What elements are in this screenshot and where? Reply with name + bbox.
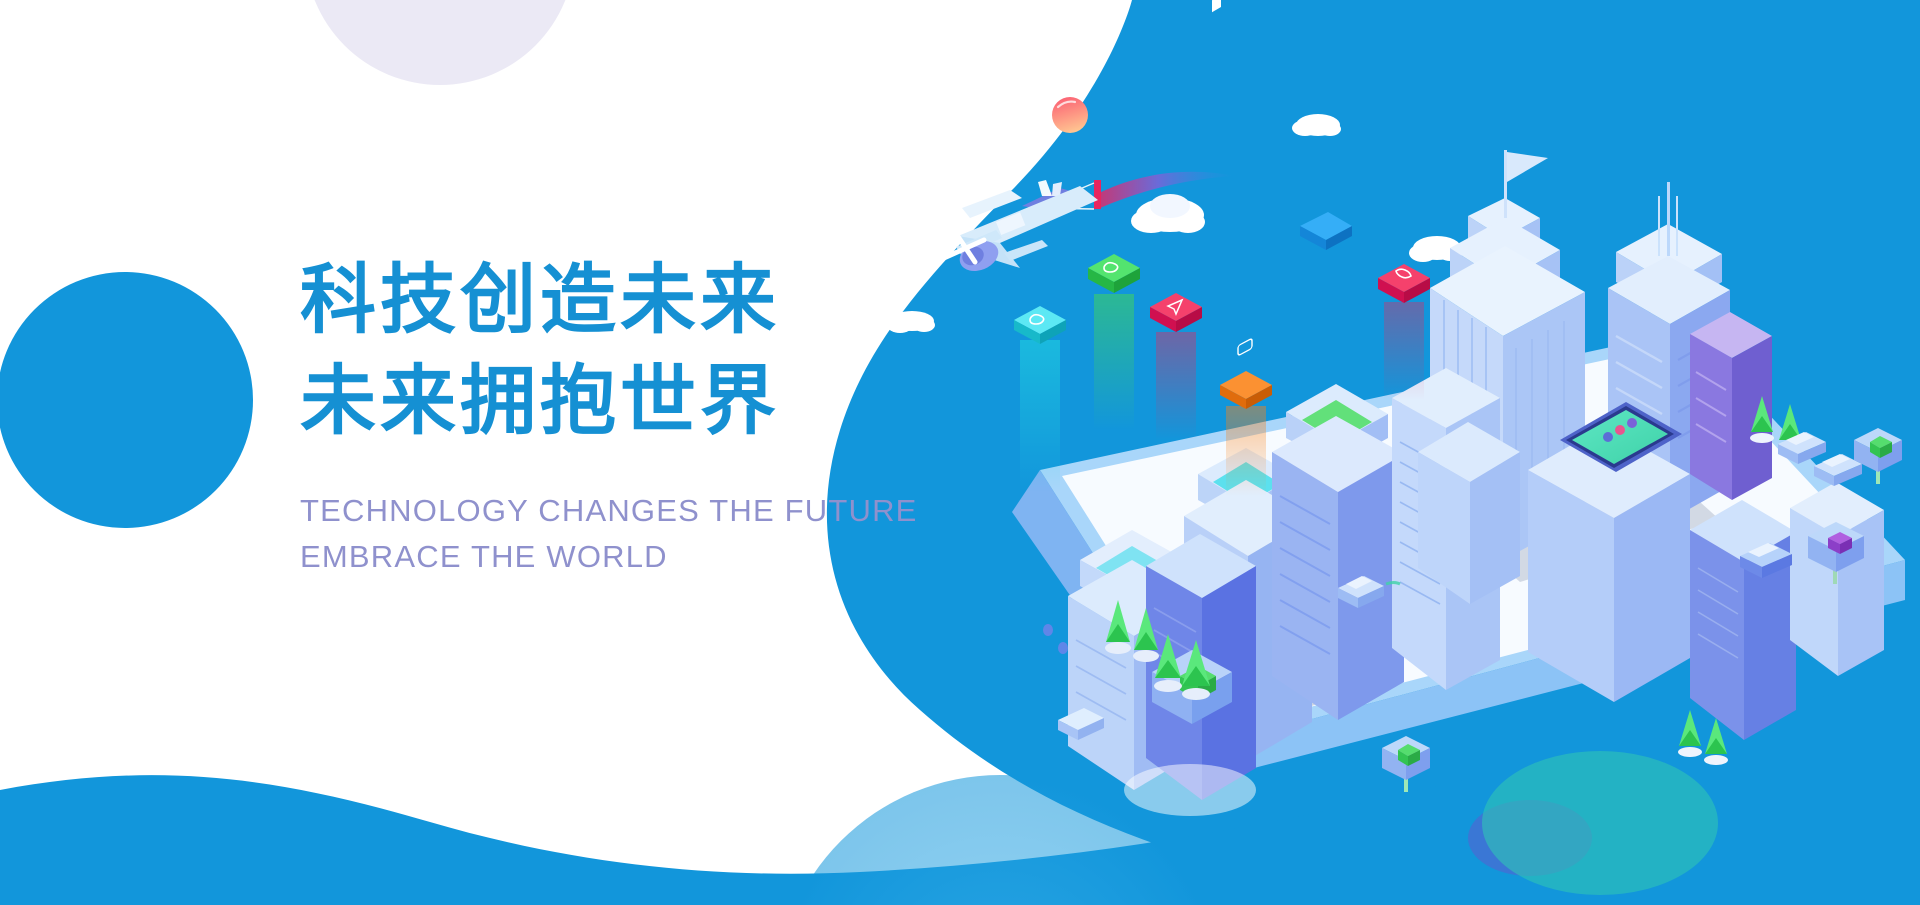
beacon-red xyxy=(1150,293,1202,440)
airplane xyxy=(944,186,1098,276)
beacon-pink xyxy=(1378,264,1430,400)
cloud-top-right xyxy=(1292,114,1341,136)
subtitle-line-1: TECHNOLOGY CHANGES THE FUTURE xyxy=(300,488,920,534)
headline-line-1: 科技创造未来 xyxy=(300,250,920,351)
street-kiosk-green xyxy=(1854,428,1902,484)
cloud-large-right xyxy=(1131,194,1205,233)
beacon-cyan xyxy=(1014,306,1066,492)
hero-banner: 科技创造未来 未来拥抱世界 TECHNOLOGY CHANGES THE FUT… xyxy=(0,0,1920,905)
beacon-orange xyxy=(1220,338,1272,496)
subtitle-line-2: EMBRACE THE WORLD xyxy=(300,534,920,580)
headline-line-2: 未来拥抱世界 xyxy=(300,351,920,452)
isometric-city-illustration xyxy=(0,0,1920,905)
hero-text-block: 科技创造未来 未来拥抱世界 TECHNOLOGY CHANGES THE FUT… xyxy=(300,250,920,580)
flag-icon xyxy=(1507,152,1548,182)
subtitle-block: TECHNOLOGY CHANGES THE FUTURE EMBRACE TH… xyxy=(300,488,920,580)
phone-glow-puddle xyxy=(1124,764,1256,816)
street-kiosk-bottom xyxy=(1382,736,1430,792)
camera-icon xyxy=(1238,338,1252,355)
beacon-green xyxy=(1088,254,1140,430)
building-midrise-left xyxy=(1418,0,1520,905)
